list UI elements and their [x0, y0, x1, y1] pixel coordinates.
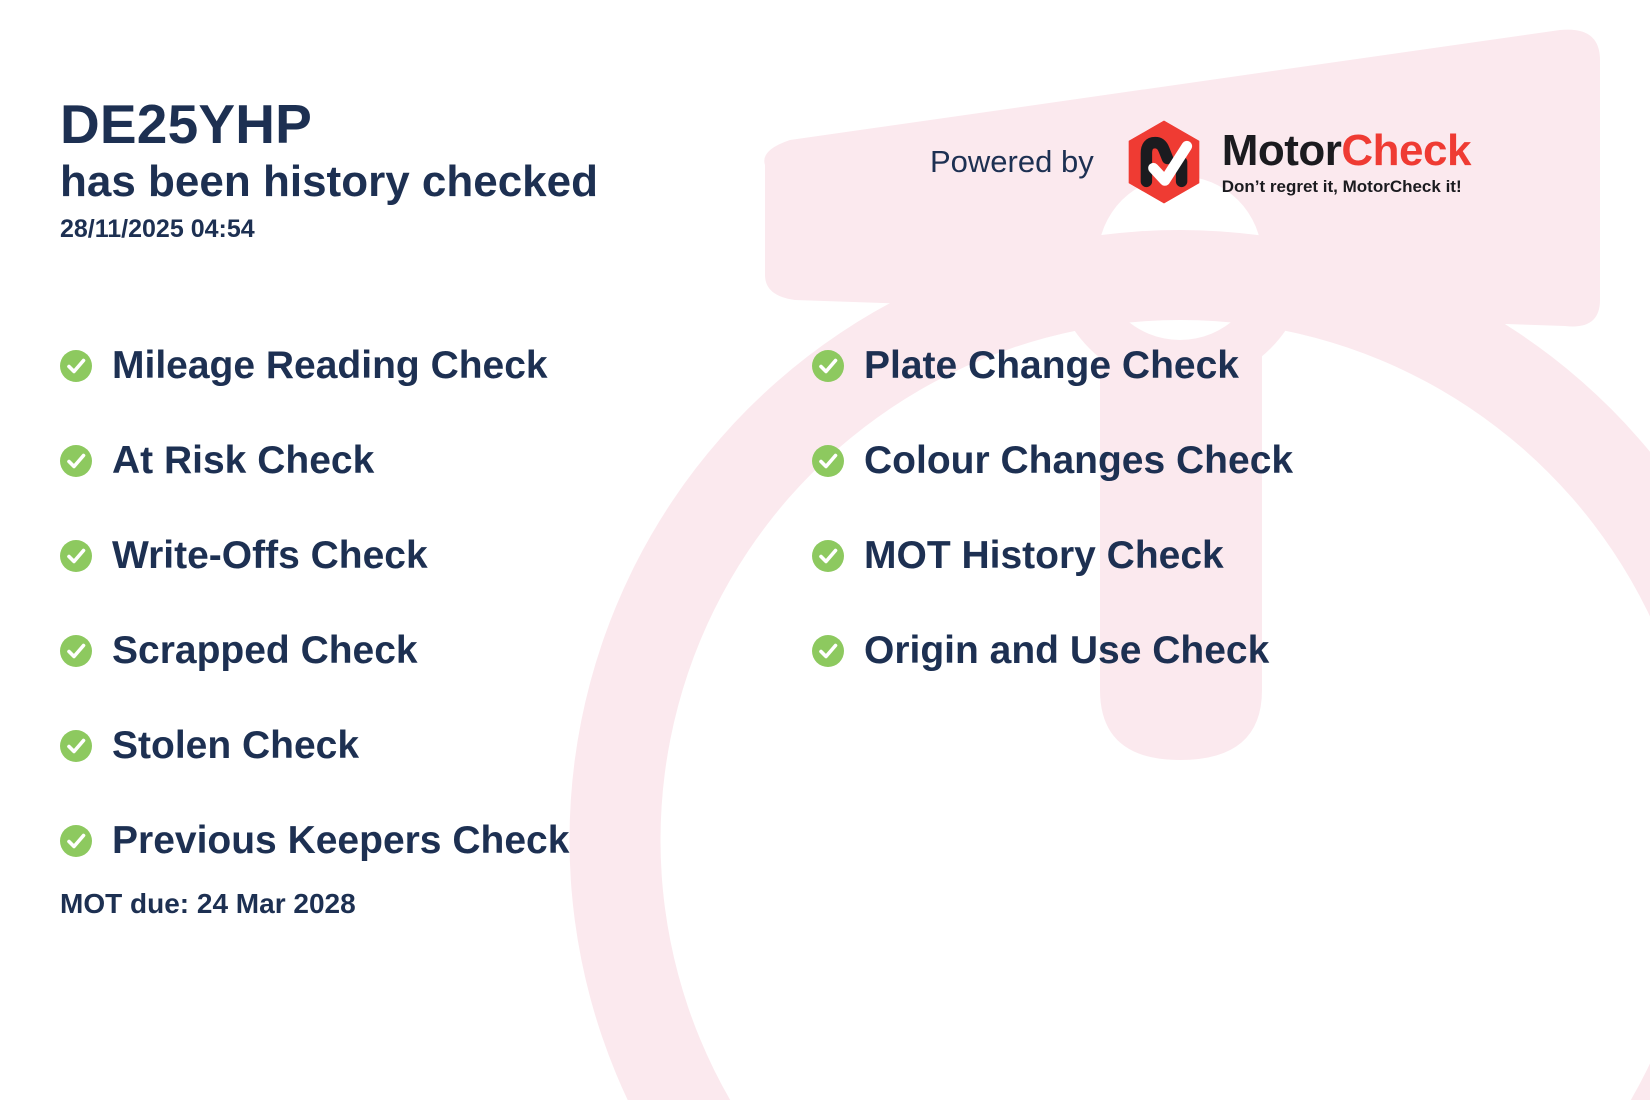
check-circle-icon — [812, 445, 844, 477]
check-item-previous-keepers: Previous Keepers Check — [60, 793, 800, 888]
brand-tagline: Don’t regret it, MotorCheck it! — [1222, 178, 1471, 195]
check-circle-icon — [60, 730, 92, 762]
check-item-label: Scrapped Check — [112, 631, 418, 670]
check-item-scrapped: Scrapped Check — [60, 603, 800, 698]
powered-by-label: Powered by — [930, 144, 1094, 180]
check-circle-icon — [812, 635, 844, 667]
check-item-mot-history: MOT History Check — [812, 508, 1552, 603]
motorcheck-wordmark: MotorCheck Don’t regret it, MotorCheck i… — [1222, 129, 1471, 195]
check-circle-icon — [60, 635, 92, 667]
check-item-label: Plate Change Check — [864, 346, 1239, 385]
check-circle-icon — [60, 350, 92, 382]
brand-name: MotorCheck — [1222, 129, 1471, 173]
check-circle-icon — [60, 825, 92, 857]
checks-column-left: Mileage Reading Check At Risk Check — [60, 318, 800, 888]
check-timestamp: 28/11/2025 04:54 — [60, 215, 598, 244]
check-circle-icon — [812, 350, 844, 382]
motorcheck-logo[interactable]: MotorCheck Don’t regret it, MotorCheck i… — [1120, 118, 1471, 206]
check-item-at-risk: At Risk Check — [60, 413, 800, 508]
mot-due-text: MOT due: 24 Mar 2028 — [60, 888, 356, 920]
check-item-mileage-reading: Mileage Reading Check — [60, 318, 800, 413]
check-item-label: MOT History Check — [864, 536, 1224, 575]
check-item-label: Write-Offs Check — [112, 536, 428, 575]
check-item-label: Origin and Use Check — [864, 631, 1269, 670]
check-item-label: Stolen Check — [112, 726, 359, 765]
card-content: DE25YHP has been history checked 28/11/2… — [0, 0, 1650, 1100]
check-item-colour-changes: Colour Changes Check — [812, 413, 1552, 508]
page-subtitle: has been history checked — [60, 156, 598, 209]
check-item-label: Colour Changes Check — [864, 441, 1293, 480]
vehicle-history-check-card: DE25YHP has been history checked 28/11/2… — [0, 0, 1650, 1100]
header-block: DE25YHP has been history checked 28/11/2… — [60, 96, 598, 244]
check-item-stolen: Stolen Check — [60, 698, 800, 793]
page-title-plate: DE25YHP — [60, 96, 598, 152]
check-item-label: At Risk Check — [112, 441, 374, 480]
brand-name-check: Check — [1341, 126, 1471, 175]
brand-name-motor: Motor — [1222, 126, 1342, 175]
checks-column-right: Plate Change Check Colour Changes Check — [812, 318, 1552, 698]
check-item-write-offs: Write-Offs Check — [60, 508, 800, 603]
check-item-label: Mileage Reading Check — [112, 346, 548, 385]
check-circle-icon — [60, 445, 92, 477]
check-item-plate-change: Plate Change Check — [812, 318, 1552, 413]
motorcheck-hexagon-logo-icon — [1120, 118, 1208, 206]
check-circle-icon — [812, 540, 844, 572]
check-item-origin-and-use: Origin and Use Check — [812, 603, 1552, 698]
check-circle-icon — [60, 540, 92, 572]
check-item-label: Previous Keepers Check — [112, 821, 569, 860]
powered-by-block: Powered by MotorCheck — [930, 118, 1471, 206]
